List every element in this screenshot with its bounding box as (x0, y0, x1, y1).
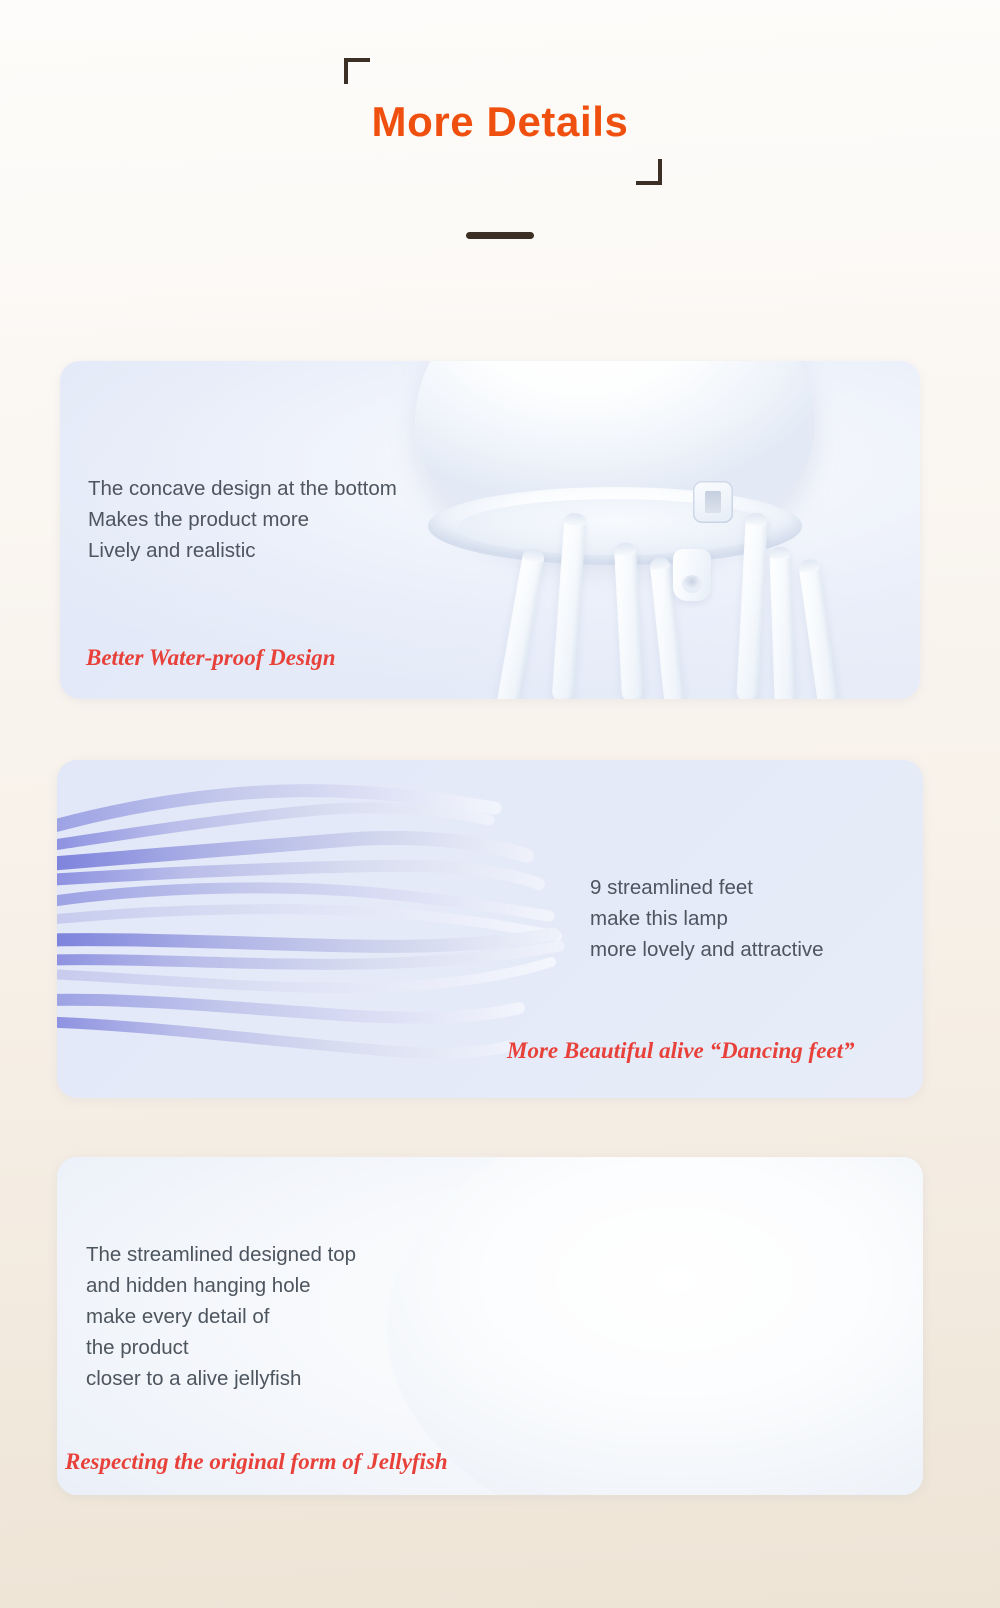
lamp-switch-port-icon (693, 481, 733, 523)
lamp-leg (614, 543, 644, 699)
lamp-leg (798, 558, 839, 699)
card-body-text: The streamlined designed top and hidden … (86, 1239, 356, 1394)
lamp-center-nozzle (673, 549, 711, 601)
detail-card-hanging-hole: The streamlined designed top and hidden … (57, 1157, 923, 1495)
page-header: More Details (0, 0, 1000, 330)
detail-card-waterproof: The concave design at the bottom Makes t… (60, 361, 920, 699)
card-tagline: Respecting the original form of Jellyfis… (65, 1449, 448, 1475)
detail-card-dancing-feet: 9 streamlined feet make this lamp more l… (57, 760, 923, 1098)
corner-bracket-top-left-icon (344, 58, 370, 84)
jellyfish-tentacles-photo (57, 760, 577, 1098)
lamp-leg (494, 547, 545, 699)
title-underline-dash (466, 232, 534, 239)
lamp-leg (769, 547, 796, 699)
page-title: More Details (372, 96, 629, 149)
tentacles-illustration (57, 760, 577, 1098)
lamp-top-surface-shape (387, 1157, 923, 1495)
card-body-text: The concave design at the bottom Makes t… (88, 473, 397, 566)
title-block: More Details (0, 96, 1000, 149)
corner-bracket-bottom-right-icon (636, 159, 662, 185)
card-body-text: 9 streamlined feet make this lamp more l… (590, 872, 824, 965)
card-tagline: Better Water-proof Design (86, 645, 336, 671)
card-tagline: More Beautiful alive “Dancing feet” (507, 1038, 855, 1064)
